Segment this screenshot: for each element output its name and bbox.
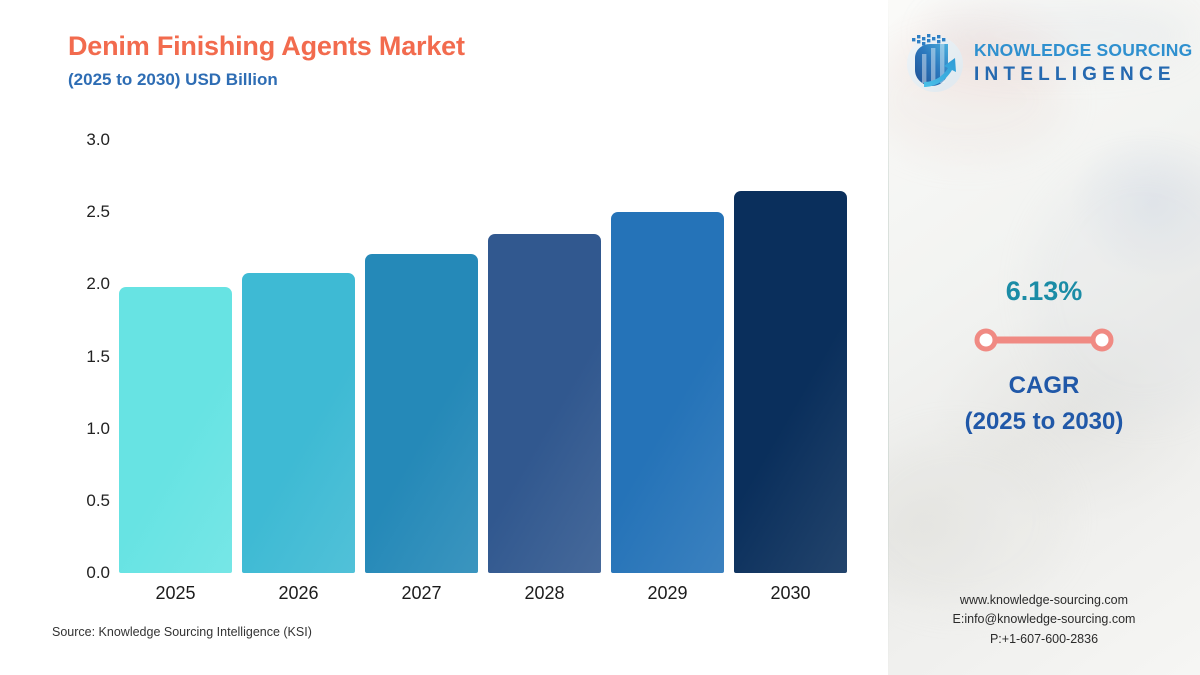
- infographic-root: Denim Finishing Agents Market (2025 to 2…: [0, 0, 1200, 675]
- chart-header: Denim Finishing Agents Market (2025 to 2…: [68, 30, 465, 91]
- x-axis-tick-label: 2025: [119, 583, 232, 604]
- bar-2025[interactable]: [119, 287, 232, 573]
- info-panel: KNOWLEDGE SOURCING INTELLIGENCE 6.13% CA…: [888, 0, 1200, 675]
- y-axis-tick-label: 0.0: [86, 563, 110, 583]
- bar-2029[interactable]: [611, 212, 724, 573]
- brand-logo-text: KNOWLEDGE SOURCING INTELLIGENCE: [974, 42, 1192, 84]
- knowledge-sourcing-logo-icon: [902, 30, 968, 96]
- cagr-block: 6.13% CAGR (2025 to 2030): [888, 278, 1200, 437]
- x-axis-tick-label: 2028: [488, 583, 601, 604]
- bar-group: 2025: [119, 140, 232, 573]
- brand-logo-line2: INTELLIGENCE: [974, 65, 1192, 84]
- cagr-range: (2025 to 2030): [888, 407, 1200, 437]
- bar-2027[interactable]: [365, 254, 478, 573]
- y-axis-tick-label: 2.0: [86, 274, 110, 294]
- page-subtitle: (2025 to 2030) USD Billion: [68, 70, 465, 90]
- bar-series: 202520262027202820292030: [119, 140, 858, 573]
- page-title: Denim Finishing Agents Market: [68, 30, 465, 62]
- brand-logo-line1: KNOWLEDGE SOURCING: [974, 42, 1192, 60]
- y-axis-tick-label: 1.5: [86, 347, 110, 367]
- background-blur-3: [888, 430, 1068, 610]
- contact-email[interactable]: E:info@knowledge-sourcing.com: [888, 610, 1200, 629]
- cagr-value: 6.13%: [888, 278, 1200, 305]
- y-axis-tick-label: 0.5: [86, 491, 110, 511]
- brand-logo: KNOWLEDGE SOURCING INTELLIGENCE: [902, 27, 1192, 99]
- x-axis-tick-label: 2027: [365, 583, 478, 604]
- bar-group: 2026: [242, 140, 355, 573]
- bar-2030[interactable]: [734, 191, 847, 573]
- bar-2026[interactable]: [242, 273, 355, 573]
- bar-chart: 0.00.51.01.52.02.53.0 202520262027202820…: [68, 140, 858, 575]
- bar-group: 2027: [365, 140, 478, 573]
- cagr-label: CAGR: [888, 371, 1200, 401]
- contact-website[interactable]: www.knowledge-sourcing.com: [888, 591, 1200, 610]
- x-axis-tick-label: 2030: [734, 583, 847, 604]
- bar-group: 2030: [734, 140, 847, 573]
- y-axis-tick-label: 2.5: [86, 202, 110, 222]
- y-axis-tick-label: 1.0: [86, 419, 110, 439]
- y-axis: 0.00.51.01.52.02.53.0: [68, 140, 120, 573]
- bar-2028[interactable]: [488, 234, 601, 573]
- contact-block: www.knowledge-sourcing.com E:info@knowle…: [888, 591, 1200, 649]
- chart-panel: Denim Finishing Agents Market (2025 to 2…: [0, 0, 888, 675]
- contact-phone: P:+1-607-600-2836: [888, 630, 1200, 649]
- bar-group: 2029: [611, 140, 724, 573]
- y-axis-tick-label: 3.0: [86, 130, 110, 150]
- x-axis-tick-label: 2029: [611, 583, 724, 604]
- bar-group: 2028: [488, 140, 601, 573]
- source-note: Source: Knowledge Sourcing Intelligence …: [52, 625, 312, 639]
- x-axis-tick-label: 2026: [242, 583, 355, 604]
- cagr-connector-icon: [970, 327, 1118, 353]
